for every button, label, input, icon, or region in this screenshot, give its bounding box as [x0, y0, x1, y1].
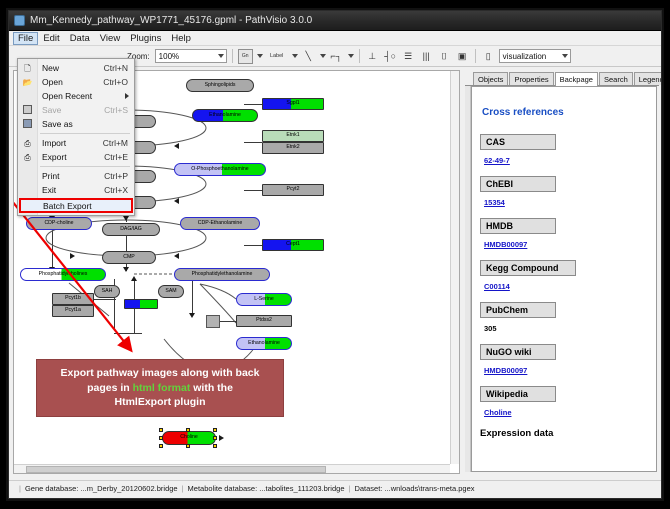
xref-hmdb-label: HMDB: [480, 218, 556, 234]
file-menu-item-import[interactable]: ⎙ Import Ctrl+M: [18, 136, 134, 150]
callout-highlight: html format: [133, 382, 191, 394]
arrow-down-3: [123, 216, 129, 221]
node-sphingolipids[interactable]: Sphingolipids: [186, 79, 254, 92]
file-menu-exit-accel: Ctrl+X: [104, 185, 134, 195]
xref-cas-value[interactable]: 62-49-7: [484, 156, 510, 165]
xref-hmdb-value[interactable]: HMDB00097: [484, 240, 527, 249]
edge-gene-sgpl1: [244, 104, 262, 105]
file-menu-export-label: Export: [42, 152, 104, 162]
arrow-left-atp: [174, 143, 179, 149]
node-ptdss2[interactable]: Ptdss2: [236, 315, 292, 327]
file-menu-batch-export-label: Batch Export: [43, 201, 131, 211]
edge-gene-etnk: [244, 142, 262, 143]
pathvisio-application-window: Mm_Kennedy_pathway_WP1771_45176.gpml - P…: [8, 10, 662, 499]
file-menu-print-accel: Ctrl+P: [104, 171, 134, 181]
xref-chebi: ChEBI 15354: [480, 176, 648, 210]
tab-legend[interactable]: Legend: [634, 72, 662, 85]
file-menu-exit-label: Exit: [42, 185, 104, 195]
file-menu-item-print[interactable]: Print Ctrl+P: [18, 169, 134, 183]
stack-button[interactable]: ⌷: [437, 49, 452, 64]
node-sam[interactable]: SAM: [158, 285, 184, 298]
annotation-callout: Export pathway images along with back pa…: [36, 359, 284, 417]
line-dropdown-icon[interactable]: [320, 54, 326, 58]
xref-pubchem: PubChem 305: [480, 302, 648, 336]
file-menu-item-open[interactable]: 📂 Open Ctrl+O: [18, 75, 134, 89]
xref-wikipedia: Wikipedia Choline: [480, 386, 648, 420]
statusbar-metabolite-db-label: Metabolite database:: [188, 484, 258, 493]
xref-nugo-value[interactable]: HMDB00097: [484, 366, 527, 375]
visualization-combobox[interactable]: visualization: [499, 49, 571, 63]
node-etnk2[interactable]: Etnk2: [262, 142, 324, 154]
toolbar-divider-3: [475, 49, 476, 63]
node-phosphatidylethanolamine[interactable]: Phosphatidylethanolamine: [174, 268, 270, 281]
selection-handle-sw[interactable]: [159, 444, 163, 448]
node-ethanolamine-right[interactable]: Ethanolamine: [236, 337, 292, 350]
statusbar-gene-db-value: ...m_Derby_20120602.bridge: [80, 484, 177, 493]
node-cmp[interactable]: CMP: [102, 251, 156, 264]
xref-cas: CAS 62-49-7: [480, 134, 648, 168]
file-menu-open-accel: Ctrl+O: [103, 77, 134, 87]
selection-handle-s[interactable]: [186, 444, 190, 448]
canvas-horizontal-scrollbar[interactable]: [14, 464, 450, 473]
side-panel-tabs: Objects Properties Backpage Search Legen…: [465, 70, 659, 86]
callout-line-2b: with the: [190, 382, 233, 394]
edge-gene-pcyt2: [244, 190, 262, 191]
node-anchor-gene[interactable]: [124, 299, 158, 309]
xref-pubchem-label: PubChem: [480, 302, 556, 318]
xref-wikipedia-value[interactable]: Choline: [484, 408, 512, 417]
node-l-serine[interactable]: L-Serine: [236, 293, 292, 306]
xref-kegg-label: Kegg Compound: [480, 260, 576, 276]
align-columns-button[interactable]: |||: [419, 49, 434, 64]
tab-backpage[interactable]: Backpage: [555, 72, 598, 86]
geneproduct-tool-button[interactable]: Gn: [238, 49, 253, 64]
file-menu-dropdown[interactable]: 🗋 New Ctrl+N 📂 Open Ctrl+O Open Recent S…: [17, 58, 135, 216]
node-sah[interactable]: SAH: [94, 285, 120, 298]
statusbar-sep-1: |: [182, 484, 184, 493]
node-choline-selected-group[interactable]: Choline: [162, 431, 216, 445]
node-sgpl1[interactable]: Sgpl1: [262, 98, 324, 110]
xref-hmdb: HMDB HMDB00097: [480, 218, 648, 252]
file-menu-open-label: Open: [42, 77, 103, 87]
application-icon: [14, 15, 25, 26]
node-pcyt2[interactable]: Pcyt2: [262, 184, 324, 196]
file-menu-save-as-label: Save as: [42, 119, 128, 129]
file-menu-save-label: Save: [42, 105, 104, 115]
arrow-up-pe: [131, 276, 137, 281]
canvas-hscroll-thumb[interactable]: [26, 466, 326, 473]
selection-handle-n[interactable]: [186, 428, 190, 432]
selection-handle-nw[interactable]: [159, 428, 163, 432]
chevron-down-icon-2: [562, 54, 568, 58]
node-cdp-ethanolamine[interactable]: CDP-Ethanolamine: [180, 217, 260, 230]
submenu-arrow-icon: [125, 93, 129, 99]
file-menu-new-accel: Ctrl+N: [104, 63, 134, 73]
node-ethanolamine-top[interactable]: Ethanolamine: [192, 109, 258, 122]
toolbar-divider: [232, 49, 233, 63]
node-cept1[interactable]: Cept1: [262, 239, 324, 251]
node-dag-iag[interactable]: DAG/IAG: [102, 223, 160, 236]
node-phosphatidylcholines[interactable]: Phosphatidylcholines: [20, 268, 106, 281]
menu-plugins[interactable]: Plugins: [125, 32, 166, 45]
folder-open-icon: 📂: [22, 77, 33, 88]
chevron-down-icon: [218, 54, 224, 58]
file-menu-item-open-recent[interactable]: Open Recent: [18, 89, 134, 103]
statusbar-sep-0: |: [19, 484, 21, 493]
align-top-button[interactable]: ⊥: [365, 49, 380, 64]
callout-line-1: Export pathway images along with back: [61, 366, 260, 380]
geneproduct-dropdown-icon[interactable]: [257, 54, 263, 58]
statusbar-sep-2: |: [348, 484, 350, 493]
canvas-vertical-scrollbar[interactable]: [450, 71, 459, 464]
file-menu-import-label: Import: [42, 138, 103, 148]
file-menu-item-batch-export[interactable]: Batch Export: [19, 198, 133, 213]
backpage-content: Cross references CAS 62-49-7 ChEBI 15354…: [471, 86, 657, 472]
align-rows-button[interactable]: ☰: [401, 49, 416, 64]
menubar: File Edit Data View Plugins Help: [9, 31, 661, 46]
callout-line-2a: pages in: [87, 382, 133, 394]
file-menu-new-label: New: [42, 63, 104, 73]
selection-handle-ne[interactable]: [213, 428, 217, 432]
save-as-icon: [22, 119, 33, 130]
save-disk-icon: [22, 105, 33, 116]
visualization-value: visualization: [503, 52, 547, 61]
xref-kegg-value[interactable]: C00114: [484, 282, 510, 291]
file-menu-separator-1: [40, 133, 130, 134]
side-panel: Objects Properties Backpage Search Legen…: [465, 70, 659, 474]
node-cdp-choline[interactable]: CDP-choline: [26, 217, 92, 230]
zoom-value: 100%: [159, 52, 179, 61]
import-icon: ⎙: [22, 138, 33, 149]
edge-gene-cept1: [244, 245, 262, 246]
arrow-right-choline: [219, 435, 224, 441]
label-dropdown-icon[interactable]: [292, 54, 298, 58]
edge-gene-pcyt1: [94, 299, 116, 300]
export-icon: ⎙: [22, 152, 33, 163]
menu-edit[interactable]: Edit: [38, 32, 64, 45]
selection-handle-se[interactable]: [213, 444, 217, 448]
xref-cas-label: CAS: [480, 134, 556, 150]
tab-properties[interactable]: Properties: [509, 72, 553, 85]
visualization-icon-button[interactable]: ▯: [481, 49, 496, 64]
node-o-phosphoethanolamine[interactable]: O-Phosphoethanolamine: [174, 163, 266, 176]
statusbar-dataset-value: ...wnloads\trans-meta.pgex: [384, 484, 474, 493]
zoom-combobox[interactable]: 100%: [155, 49, 227, 63]
xref-nugo-label: NuGO wiki: [480, 344, 556, 360]
xref-wikipedia-label: Wikipedia: [480, 386, 556, 402]
interaction-tool-button[interactable]: ⌐┐: [329, 49, 344, 64]
tab-objects[interactable]: Objects: [473, 72, 508, 85]
file-menu-save-accel: Ctrl+S: [104, 105, 134, 115]
menu-data[interactable]: Data: [65, 32, 95, 45]
node-etnk1[interactable]: Etnk1: [262, 130, 324, 142]
file-menu-item-save: Save Ctrl+S: [18, 103, 134, 117]
file-menu-item-save-as[interactable]: Save as: [18, 117, 134, 131]
cross-references-title: Cross references: [482, 107, 648, 118]
node-choline-selected[interactable]: Choline: [162, 431, 216, 445]
arrow-left-ppi: [174, 198, 179, 204]
menu-help[interactable]: Help: [166, 32, 196, 45]
align-left-button[interactable]: ┤○: [383, 49, 398, 64]
xref-chebi-label: ChEBI: [480, 176, 556, 192]
menu-file[interactable]: File: [13, 32, 38, 45]
node-pcyt1b[interactable]: Pcyt1b: [52, 293, 94, 305]
label-tool-button[interactable]: Label: [266, 49, 288, 64]
callout-line-2: pages in html format with the: [87, 381, 233, 395]
file-menu-export-accel: Ctrl+E: [104, 152, 134, 162]
anchor-box-ptdss2[interactable]: [206, 315, 220, 328]
xref-pubchem-value: 305: [484, 324, 497, 333]
file-menu-item-exit[interactable]: Exit Ctrl+X: [18, 183, 134, 197]
interaction-dropdown-icon[interactable]: [348, 54, 354, 58]
arrow-left-cmp: [174, 253, 179, 259]
window-title: Mm_Kennedy_pathway_WP1771_45176.gpml - P…: [30, 15, 312, 26]
callout-line-3: HtmlExport plugin: [115, 395, 206, 409]
file-menu-import-accel: Ctrl+M: [103, 138, 134, 148]
window-titlebar: Mm_Kennedy_pathway_WP1771_45176.gpml - P…: [9, 11, 661, 31]
statusbar: | Gene database: ...m_Derby_20120602.bri…: [9, 480, 662, 495]
new-document-icon: 🗋: [22, 63, 33, 74]
statusbar-dataset-label: Dataset:: [354, 484, 382, 493]
arrow-down-4: [123, 267, 129, 272]
screenshot-root: Mm_Kennedy_pathway_WP1771_45176.gpml - P…: [0, 0, 670, 509]
statusbar-gene-db-label: Gene database:: [25, 484, 78, 493]
file-menu-item-export[interactable]: ⎙ Export Ctrl+E: [18, 150, 134, 164]
selection-handle-e[interactable]: [213, 436, 217, 440]
file-menu-separator-2: [40, 166, 130, 167]
xref-chebi-value[interactable]: 15354: [484, 198, 505, 207]
tab-search[interactable]: Search: [599, 72, 633, 85]
expression-data-title: Expression data: [480, 428, 648, 439]
line-tool-button[interactable]: ╲: [301, 49, 316, 64]
toolbar-divider-2: [359, 49, 360, 63]
xref-nugo: NuGO wiki HMDB00097: [480, 344, 648, 378]
file-menu-open-recent-label: Open Recent: [42, 91, 134, 101]
menu-view[interactable]: View: [95, 32, 125, 45]
arrow-down-ps: [189, 313, 195, 318]
file-menu-item-new[interactable]: 🗋 New Ctrl+N: [18, 61, 134, 75]
arrow-right-cmp: [70, 253, 75, 259]
file-menu-print-label: Print: [42, 171, 104, 181]
xref-kegg: Kegg Compound C00114: [480, 260, 648, 294]
statusbar-metabolite-db-value: ...tabolites_111203.bridge: [259, 484, 344, 493]
selection-handle-w[interactable]: [159, 436, 163, 440]
node-pcyt1a[interactable]: Pcyt1a: [52, 305, 94, 317]
group-button[interactable]: ▣: [455, 49, 470, 64]
